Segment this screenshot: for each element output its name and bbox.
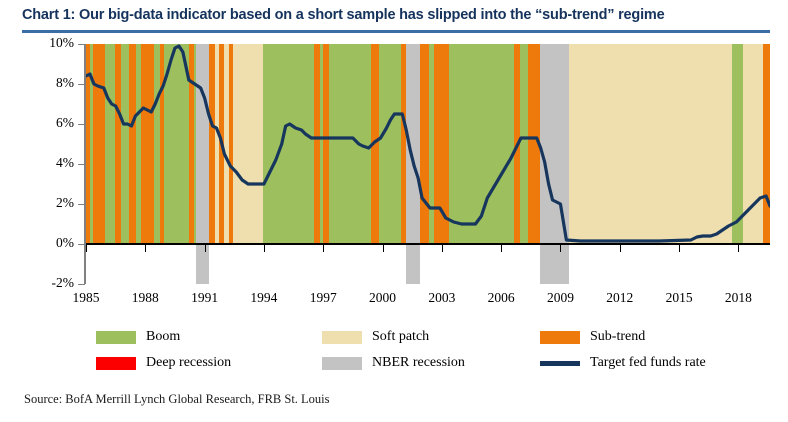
title-rule xyxy=(22,30,770,33)
y-axis-tick-label: 8% xyxy=(26,75,74,91)
legend-item-deep-recession[interactable]: Deep recession xyxy=(96,355,322,371)
legend-line-swatch-icon xyxy=(540,361,580,366)
x-axis-tick xyxy=(738,245,739,252)
x-axis-tick-label: 1991 xyxy=(175,290,235,306)
y-axis-tick xyxy=(78,244,85,245)
y-axis-tick xyxy=(78,204,85,205)
y-axis-tick-label: 2% xyxy=(26,195,74,211)
x-axis-tick-label: 1988 xyxy=(115,290,175,306)
legend-label: Deep recession xyxy=(146,355,231,371)
legend-label: Boom xyxy=(146,329,180,345)
zero-axis-line xyxy=(86,243,770,245)
x-axis-tick xyxy=(205,245,206,252)
series-line xyxy=(86,46,770,241)
x-axis-tick xyxy=(620,245,621,252)
y-axis-tick xyxy=(78,284,85,285)
y-axis-tick-label: 10% xyxy=(26,35,74,51)
x-axis-tick-label: 2012 xyxy=(590,290,650,306)
legend-color-swatch-icon xyxy=(96,357,136,370)
x-axis-tick-label: 2015 xyxy=(649,290,709,306)
legend-label: Target fed funds rate xyxy=(590,355,706,371)
chart-legend: BoomSoft patchSub-trendDeep recessionNBE… xyxy=(96,324,756,376)
legend-label: Soft patch xyxy=(372,329,429,345)
x-axis-tick xyxy=(145,245,146,252)
legend-label: Sub-trend xyxy=(590,329,645,345)
x-axis-tick xyxy=(264,245,265,252)
legend-label: NBER recession xyxy=(372,355,465,371)
x-axis-tick xyxy=(560,245,561,252)
legend-item-target-fed-funds-rate[interactable]: Target fed funds rate xyxy=(540,355,756,371)
y-axis-tick-label: 4% xyxy=(26,155,74,171)
legend-item-soft-patch[interactable]: Soft patch xyxy=(322,329,540,345)
source-note: Source: BofA Merrill Lynch Global Resear… xyxy=(24,392,330,407)
x-axis-tick-label: 2018 xyxy=(708,290,768,306)
x-axis-tick-label: 2009 xyxy=(530,290,590,306)
y-axis-tick xyxy=(78,84,85,85)
x-axis-tick-label: 1994 xyxy=(234,290,294,306)
x-axis-tick xyxy=(442,245,443,252)
legend-item-boom[interactable]: Boom xyxy=(96,329,322,345)
legend-color-swatch-icon xyxy=(322,331,362,344)
legend-color-swatch-icon xyxy=(322,357,362,370)
x-axis-tick-label: 1985 xyxy=(56,290,116,306)
legend-row: Deep recessionNBER recessionTarget fed f… xyxy=(96,350,756,376)
x-axis-tick xyxy=(501,245,502,252)
y-axis-tick xyxy=(78,124,85,125)
x-axis-tick-label: 2000 xyxy=(353,290,413,306)
y-axis-tick xyxy=(78,164,85,165)
x-axis-tick xyxy=(323,245,324,252)
legend-item-nber-recession[interactable]: NBER recession xyxy=(322,355,540,371)
x-axis-tick-label: 2003 xyxy=(412,290,472,306)
legend-row: BoomSoft patchSub-trend xyxy=(96,324,756,350)
y-axis-tick-label: 6% xyxy=(26,115,74,131)
x-axis-tick xyxy=(679,245,680,252)
x-axis-tick xyxy=(383,245,384,252)
legend-color-swatch-icon xyxy=(540,331,580,344)
series-target-fed-funds-rate xyxy=(86,44,770,246)
x-axis-tick xyxy=(86,245,87,252)
y-axis-tick-label: 0% xyxy=(26,235,74,251)
legend-item-sub-trend[interactable]: Sub-trend xyxy=(540,329,756,345)
chart-page: Chart 1: Our big-data indicator based on… xyxy=(0,0,788,422)
x-axis-tick-label: 1997 xyxy=(293,290,353,306)
y-axis-tick-label: -2% xyxy=(26,275,74,291)
y-axis-tick xyxy=(78,44,85,45)
legend-color-swatch-icon xyxy=(96,331,136,344)
page-title: Chart 1: Our big-data indicator based on… xyxy=(22,7,770,23)
x-axis-tick-label: 2006 xyxy=(471,290,531,306)
